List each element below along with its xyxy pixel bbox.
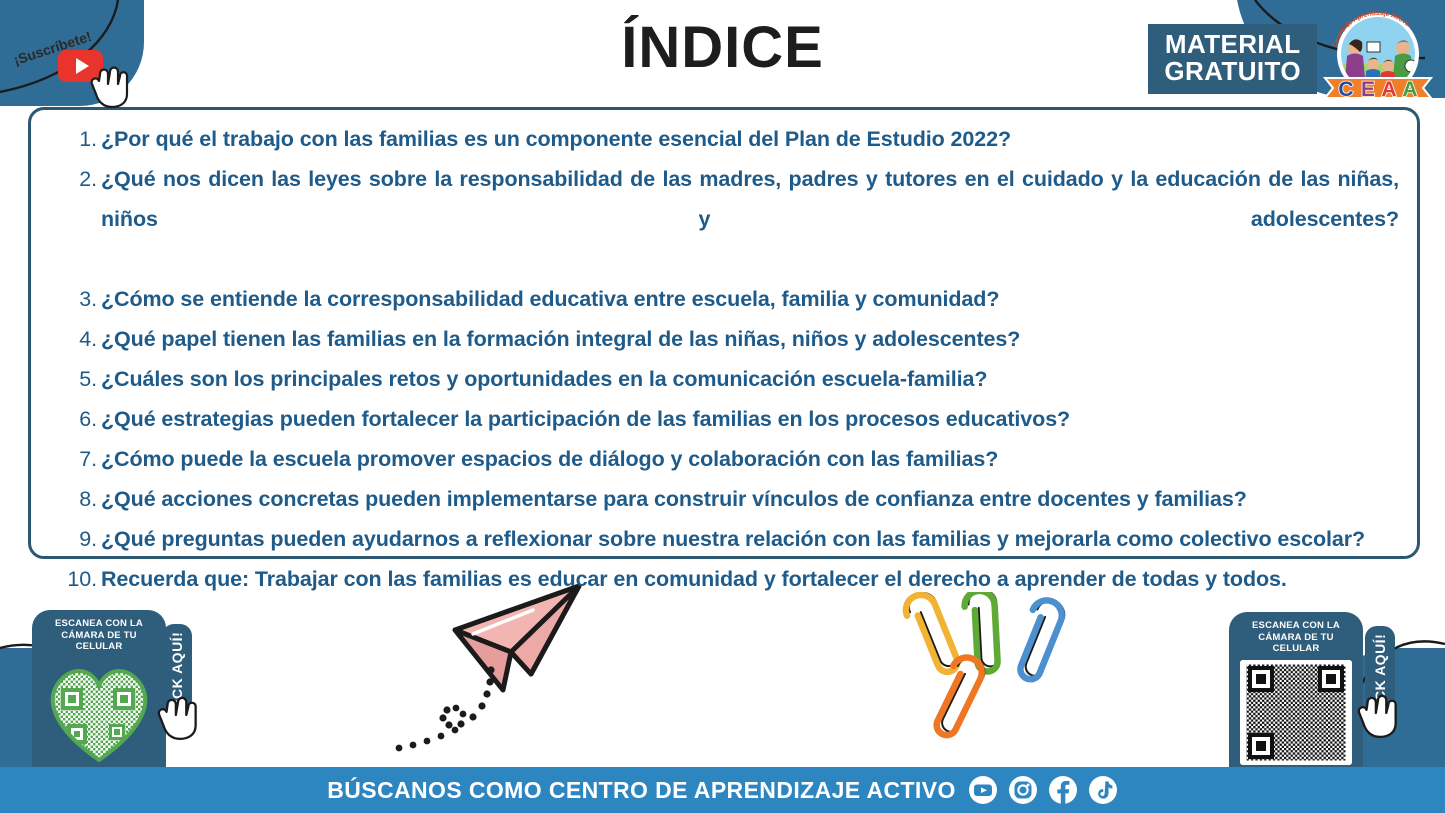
list-item: ¿Por qué el trabajo con las familias es … (45, 120, 1399, 160)
material-gratuito-badge: MATERIAL GRATUITO (1148, 24, 1317, 94)
svg-text:A: A (1381, 78, 1396, 101)
qr-code-square-black[interactable] (1240, 660, 1352, 765)
list-item-text: ¿Qué nos dicen las leyes sobre la respon… (101, 160, 1399, 280)
qr-left-caption-top: ESCANEA CON LA CÁMARA DE TU CELULAR (38, 618, 160, 653)
subscribe-badge[interactable]: ¡Suscríbete! (6, 24, 181, 99)
youtube-icon[interactable] (968, 775, 998, 805)
ceaa-logo: Centro de Aprendizaje Activo C E A A (1319, 4, 1437, 104)
qr-code-heart-green[interactable] (43, 658, 155, 763)
index-list: ¿Por qué el trabajo con las familias es … (45, 120, 1399, 600)
pointer-hand-icon (88, 60, 134, 110)
qr-right-caption-top: ESCANEA CON LA CÁMARA DE TU CELULAR (1235, 620, 1357, 655)
list-item: ¿Cuáles son los principales retos y opor… (45, 360, 1399, 400)
list-item: ¿Qué preguntas pueden ayudarnos a reflex… (45, 520, 1399, 560)
paper-airplane-icon (383, 578, 598, 758)
footer-bar: BÚSCANOS COMO CENTRO DE APRENDIZAJE ACTI… (0, 767, 1445, 813)
list-item-text: ¿Qué preguntas pueden ayudarnos a reflex… (101, 527, 1365, 551)
material-badge-line2: GRATUITO (1164, 58, 1301, 85)
list-item: ¿Cómo puede la escuela promover espacios… (45, 440, 1399, 480)
list-item-text: ¿Por qué el trabajo con las familias es … (101, 127, 1011, 151)
paperclips-icon (892, 592, 1070, 742)
index-card: ¿Por qué el trabajo con las familias es … (28, 107, 1420, 559)
list-item-text: ¿Cómo se entiende la corresponsabilidad … (101, 287, 999, 311)
list-item: ¿Qué acciones concretas pueden implement… (45, 480, 1399, 520)
material-badge-line1: MATERIAL (1164, 31, 1301, 58)
list-item-text: Recuerda que: Trabajar con las familias … (101, 567, 1287, 591)
tiktok-icon[interactable] (1088, 775, 1118, 805)
list-item: ¿Qué papel tienen las familias en la for… (45, 320, 1399, 360)
list-item: Recuerda que: Trabajar con las familias … (45, 560, 1399, 600)
slide-canvas: ¡Suscríbete! ÍNDICE MATERIAL GRATUITO (0, 0, 1445, 813)
list-item-text: ¿Cuáles son los principales retos y opor… (101, 367, 987, 391)
social-links (968, 775, 1118, 805)
pointer-hand-icon (155, 690, 203, 742)
list-item-text: ¿Cómo puede la escuela promover espacios… (101, 447, 998, 471)
svg-text:A: A (1402, 78, 1417, 101)
list-item: ¿Qué nos dicen las leyes sobre la respon… (45, 160, 1399, 280)
facebook-icon[interactable] (1048, 775, 1078, 805)
footer-text: BÚSCANOS COMO CENTRO DE APRENDIZAJE ACTI… (327, 777, 955, 804)
list-item-text: ¿Qué papel tienen las familias en la for… (101, 327, 1020, 351)
list-item-text: ¿Qué acciones concretas pueden implement… (101, 487, 1247, 511)
list-item: ¿Qué estrategias pueden fortalecer la pa… (45, 400, 1399, 440)
svg-text:E: E (1361, 78, 1375, 101)
svg-text:C: C (1338, 78, 1353, 101)
instagram-icon[interactable] (1008, 775, 1038, 805)
pointer-hand-icon (1355, 688, 1403, 740)
list-item: ¿Cómo se entiende la corresponsabilidad … (45, 280, 1399, 320)
list-item-text: ¿Qué estrategias pueden fortalecer la pa… (101, 407, 1070, 431)
